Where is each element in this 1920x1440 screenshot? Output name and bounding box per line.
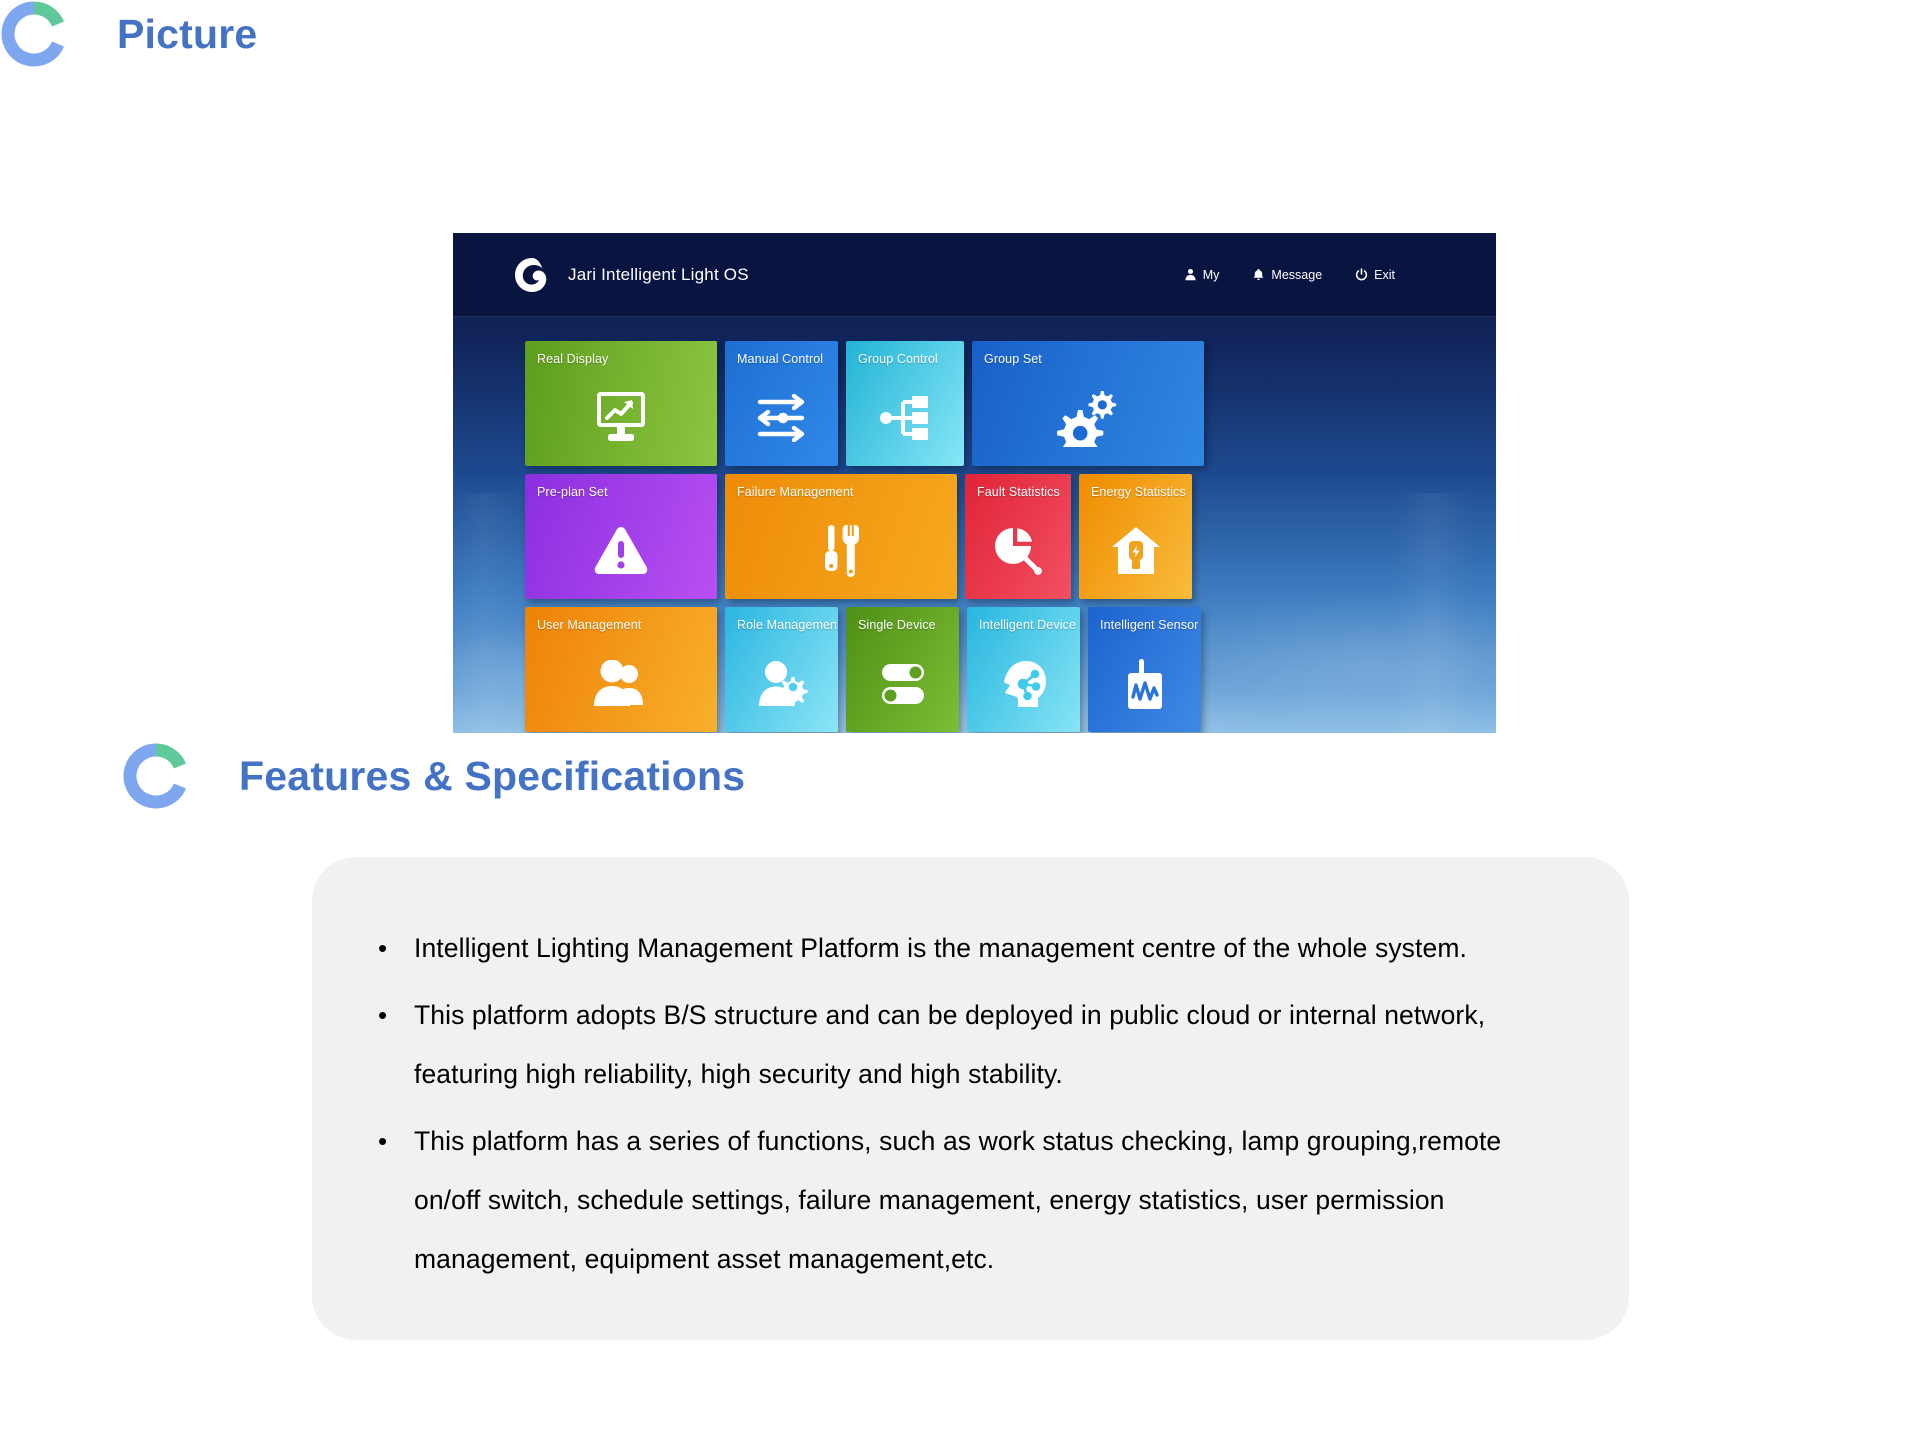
brand: Jari Intelligent Light OS: [513, 256, 749, 294]
page-title-features: Features & Specifications: [239, 753, 745, 800]
section-header-picture: Picture: [0, 0, 257, 68]
tile-row: Pre-plan Set Failure Management: [525, 474, 1424, 599]
tile-label: Energy Statistics: [1091, 485, 1186, 499]
tile-role-management[interactable]: Role Management: [725, 607, 838, 732]
nav-label-exit: Exit: [1374, 268, 1395, 282]
section-header-features: Features & Specifications: [122, 742, 745, 810]
tile-pre-plan-set[interactable]: Pre-plan Set: [525, 474, 717, 599]
jari-swirl-logo-icon: [513, 256, 551, 294]
features-panel: • Intelligent Lighting Management Platfo…: [312, 857, 1629, 1340]
list-item: • This platform adopts B/S structure and…: [368, 986, 1559, 1104]
page-title-picture: Picture: [117, 11, 257, 58]
tile-user-management[interactable]: User Management: [525, 607, 717, 732]
user-icon: [1184, 268, 1197, 281]
toggle-switches-icon: [846, 641, 959, 726]
tile-label: Manual Control: [737, 352, 823, 366]
tile-intelligent-sensor[interactable]: Intelligent Sensor: [1088, 607, 1201, 732]
tile-grid: Real Display Manual Control: [453, 317, 1496, 733]
sliders-icon: [725, 375, 838, 460]
tile-row: Real Display Manual Control: [525, 341, 1424, 466]
house-plug-icon: [1079, 508, 1192, 593]
tile-failure-management[interactable]: Failure Management: [725, 474, 957, 599]
sensor-wave-icon: [1088, 641, 1201, 726]
nav-label-message: Message: [1271, 268, 1322, 282]
users-icon: [525, 641, 717, 726]
bullet-text: This platform adopts B/S structure and c…: [414, 986, 1559, 1104]
list-item: • This platform has a series of function…: [368, 1112, 1559, 1289]
bullet-text: Intelligent Lighting Management Platform…: [414, 919, 1467, 978]
tile-label: Intelligent Device: [979, 618, 1076, 632]
dashboard-nav: My Message: [1184, 268, 1395, 282]
bullet-marker: •: [368, 919, 414, 978]
power-icon: [1355, 268, 1368, 281]
tile-label: Intelligent Sensor: [1100, 618, 1198, 632]
sitemap-icon: [846, 375, 964, 460]
c-ring-logo-icon: [0, 0, 68, 68]
tile-label: Failure Management: [737, 485, 853, 499]
tile-energy-statistics[interactable]: Energy Statistics: [1079, 474, 1192, 599]
tile-label: Group Control: [858, 352, 938, 366]
tile-label: Role Management: [737, 618, 838, 632]
tile-label: Pre-plan Set: [537, 485, 608, 499]
dashboard-header: Jari Intelligent Light OS My: [453, 233, 1496, 317]
bullet-marker: •: [368, 1112, 414, 1289]
user-gear-icon: [725, 641, 838, 726]
nav-item-my[interactable]: My: [1184, 268, 1220, 282]
tile-label: Group Set: [984, 352, 1042, 366]
ai-head-icon: [967, 641, 1080, 726]
tile-label: Single Device: [858, 618, 936, 632]
tile-group-set[interactable]: Group Set: [972, 341, 1204, 466]
nav-item-exit[interactable]: Exit: [1355, 268, 1395, 282]
bell-icon: [1252, 268, 1265, 281]
list-item: • Intelligent Lighting Management Platfo…: [368, 919, 1559, 978]
tile-single-device[interactable]: Single Device: [846, 607, 959, 732]
slide-page: Picture Jari Intelligent Light OS: [0, 0, 1920, 1440]
gears-icon: [972, 375, 1204, 460]
bullet-marker: •: [368, 986, 414, 1104]
tile-row: User Management Role Management: [525, 607, 1424, 732]
warning-triangle-icon: [525, 508, 717, 593]
c-ring-logo-icon: [122, 742, 190, 810]
nav-item-message[interactable]: Message: [1252, 268, 1322, 282]
brand-name: Jari Intelligent Light OS: [568, 265, 749, 285]
tile-group-control[interactable]: Group Control: [846, 341, 964, 466]
bullet-text: This platform has a series of functions,…: [414, 1112, 1559, 1289]
tile-real-display[interactable]: Real Display: [525, 341, 717, 466]
nav-label-my: My: [1203, 268, 1220, 282]
tools-icon: [725, 508, 957, 593]
tile-label: Fault Statistics: [977, 485, 1060, 499]
tile-manual-control[interactable]: Manual Control: [725, 341, 838, 466]
dashboard-screenshot: Jari Intelligent Light OS My: [453, 233, 1496, 733]
monitor-chart-icon: [525, 375, 717, 460]
tile-label: Real Display: [537, 352, 608, 366]
tile-label: User Management: [537, 618, 641, 632]
features-bullet-list: • Intelligent Lighting Management Platfo…: [312, 857, 1629, 1289]
tile-intelligent-device[interactable]: Intelligent Device: [967, 607, 1080, 732]
pie-search-icon: [965, 508, 1071, 593]
tile-fault-statistics[interactable]: Fault Statistics: [965, 474, 1071, 599]
